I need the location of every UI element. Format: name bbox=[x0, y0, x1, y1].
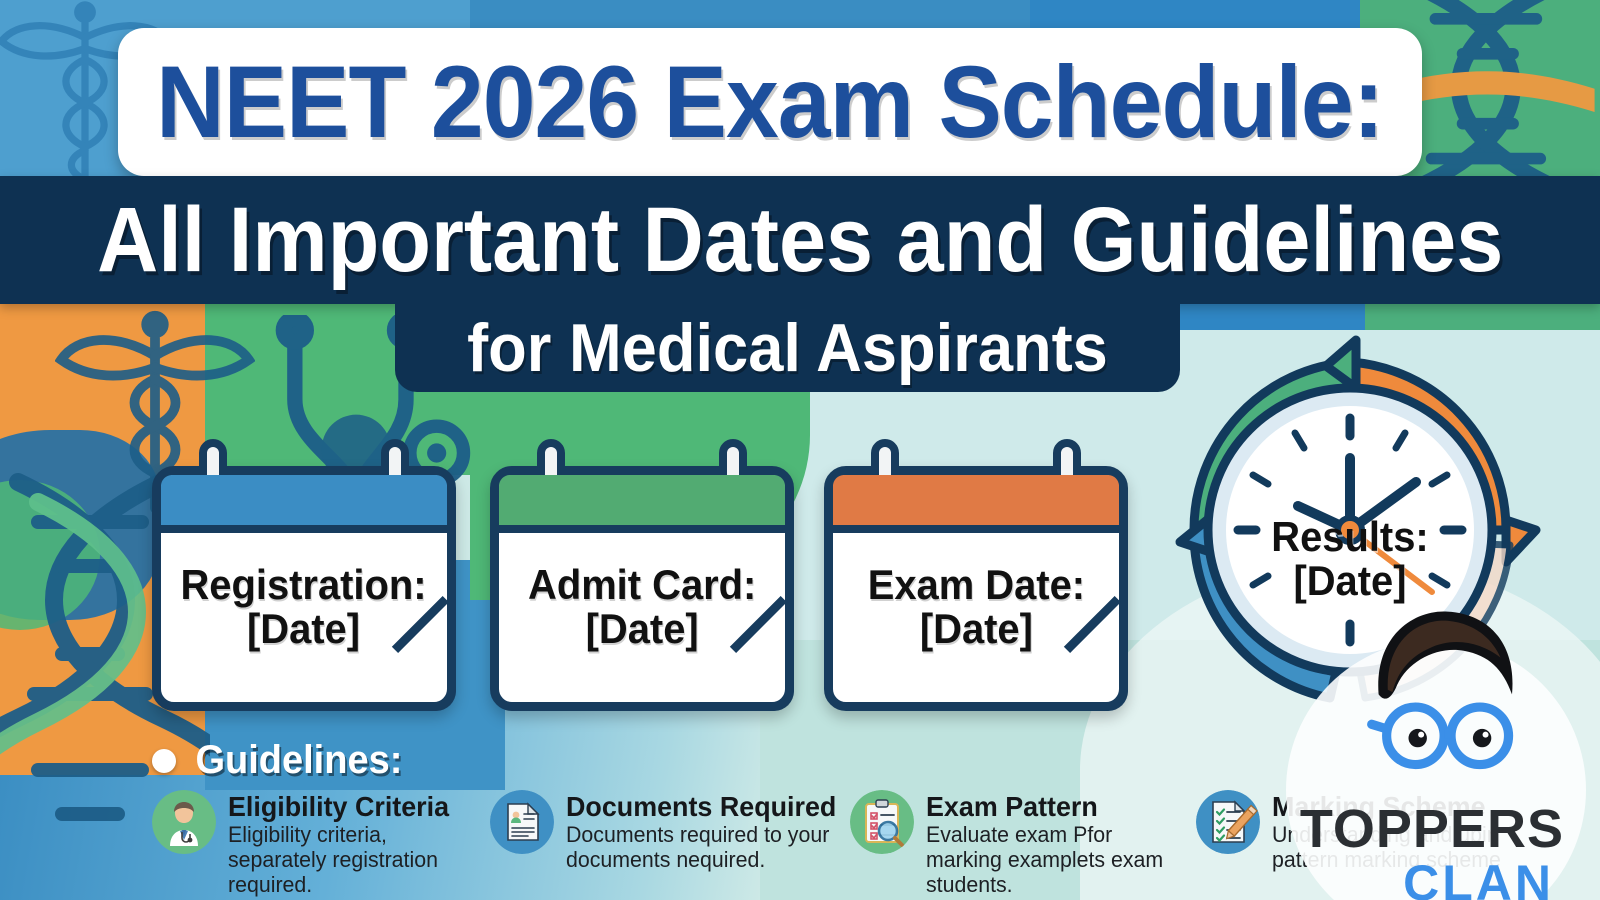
calendar-card-admit-card[interactable]: Admit Card: [Date] bbox=[490, 466, 794, 711]
results-value: [Date] bbox=[1293, 557, 1406, 604]
guideline-texts: Eligibility Criteria Eligibility criteri… bbox=[228, 790, 482, 897]
guideline-title: Documents Required bbox=[566, 792, 836, 821]
title-plate: NEET 2026 Exam Schedule: bbox=[118, 28, 1422, 176]
calendar-card-registration[interactable]: Registration: [Date] bbox=[152, 466, 456, 711]
calendar-header-bar bbox=[499, 475, 785, 533]
calendar-card-exam-date[interactable]: Exam Date: [Date] bbox=[824, 466, 1128, 711]
guidelines-heading: Guidelines: bbox=[152, 738, 408, 783]
poster-root: NEET 2026 Exam Schedule: All Important D… bbox=[0, 0, 1600, 900]
calendar-value: [Date] bbox=[585, 605, 698, 652]
calendar-label: Registration: bbox=[181, 561, 427, 608]
results-label: Results: bbox=[1271, 513, 1428, 560]
clipboard-magnifier-icon bbox=[850, 790, 914, 854]
guideline-texts: Exam Pattern Evaluate exam Pfor marking … bbox=[926, 790, 1180, 897]
doctor-icon bbox=[152, 790, 216, 854]
guideline-title: Exam Pattern bbox=[926, 792, 1170, 821]
calendar-value: [Date] bbox=[919, 605, 1032, 652]
guidelines-heading-label: Guidelines: bbox=[195, 738, 402, 783]
calendar-folded-corner bbox=[720, 637, 794, 711]
guideline-item-exam-pattern[interactable]: Exam Pattern Evaluate exam Pfor marking … bbox=[850, 790, 1180, 897]
calendar-folded-corner bbox=[382, 637, 456, 711]
logo-text-clan: CLAN bbox=[1403, 854, 1554, 900]
guideline-item-documents-required[interactable]: Documents Required Documents required to… bbox=[490, 790, 840, 873]
results-text: Results: [Date] bbox=[1160, 515, 1540, 602]
title-band-secondary: All Important Dates and Guidelines bbox=[0, 176, 1600, 304]
document-person-icon bbox=[490, 790, 554, 854]
checklist-pencil-icon bbox=[1196, 790, 1260, 854]
page-title-line1: NEET 2026 Exam Schedule: bbox=[156, 44, 1383, 161]
page-title-line2: All Important Dates and Guidelines bbox=[97, 188, 1503, 293]
guideline-desc: Evaluate exam Pfor marking examplets exa… bbox=[926, 823, 1172, 897]
guideline-texts: Documents Required Documents required to… bbox=[566, 790, 848, 873]
brand-logo[interactable]: TOPPERS CLAN bbox=[1272, 586, 1592, 900]
title-band-tertiary: for Medical Aspirants bbox=[395, 304, 1180, 392]
page-title-line3: for Medical Aspirants bbox=[467, 309, 1108, 387]
calendar-header-bar bbox=[161, 475, 447, 533]
calendar-text: Exam Date: [Date] bbox=[867, 563, 1084, 650]
guideline-item-eligibility-criteria[interactable]: Eligibility Criteria Eligibility criteri… bbox=[152, 790, 482, 897]
toppers-clan-face-logo bbox=[1328, 584, 1558, 814]
calendar-label: Admit Card: bbox=[528, 561, 756, 608]
calendar-label: Exam Date: bbox=[867, 561, 1084, 608]
calendar-value: [Date] bbox=[247, 605, 360, 652]
calendar-header-bar bbox=[833, 475, 1119, 533]
guideline-desc: Documents required to your documents neq… bbox=[566, 823, 839, 872]
bullet-icon bbox=[152, 749, 176, 773]
guideline-title: Eligibility Criteria bbox=[228, 792, 472, 821]
calendar-folded-corner bbox=[1054, 637, 1128, 711]
guideline-desc: Eligibility criteria, separately registr… bbox=[228, 823, 474, 897]
logo-text-toppers: TOPPERS bbox=[1300, 798, 1564, 860]
